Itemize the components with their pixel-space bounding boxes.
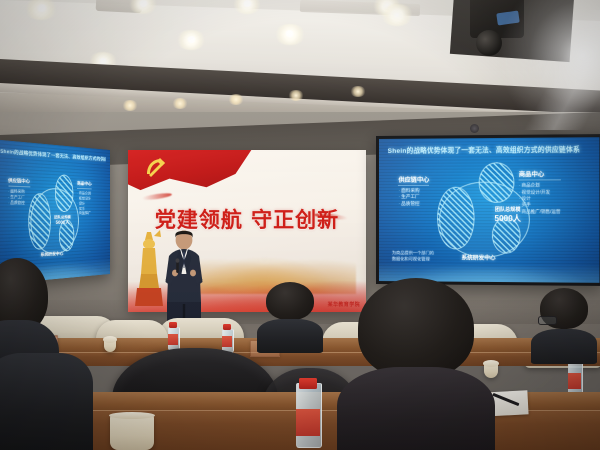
paper-cup[interactable] — [104, 338, 116, 352]
slide-left-column-product: 商品中心 商品企划 视觉设计 设计 买手 商品推广 — [77, 181, 92, 216]
bottle-cap — [169, 322, 177, 328]
attendee-head — [358, 278, 474, 378]
slide-left-supply-item: 品质管控 — [8, 200, 30, 206]
water-bottle[interactable] — [168, 322, 178, 349]
slide-right-column-supply: 供应链中心 面料采购 生产工厂 品质管控 — [398, 174, 429, 207]
slide-right-product-heading: 商品中心 — [519, 169, 561, 180]
cove-light — [172, 98, 188, 109]
backdrop-org-name: 某华教育学院 — [328, 301, 360, 308]
cove-light — [122, 100, 138, 111]
slide-note-line1: 为商品提供一个部门的 — [392, 250, 434, 255]
attendee-body — [257, 319, 322, 353]
eyeglasses-icon — [538, 316, 557, 325]
presenter-figure — [163, 228, 205, 328]
recessed-downlight — [242, 0, 253, 7]
attendee-body — [0, 353, 93, 450]
venn-total-value: 5000人 — [495, 214, 521, 223]
slide-right: Shein的战略优势体现了一套无法、高效组织方式的供应链体系 供应链中心 面料采… — [379, 137, 600, 283]
display-screen-right[interactable]: Shein的战略优势体现了一套无法、高效组织方式的供应链体系 供应链中心 面料采… — [376, 134, 600, 286]
bottle-label — [568, 373, 581, 388]
slide-left-supply-heading: 供应链中心 — [8, 178, 30, 188]
venn-center-label: 团队总规模 5000人 — [45, 215, 79, 227]
photo-scene: Shein的战略优势体现了一套无法、高效组织方式的供应链体系 供应链中心 面料采… — [0, 0, 600, 450]
cove-light — [228, 94, 244, 105]
recessed-downlight — [138, 0, 149, 7]
bottle-cap — [299, 378, 317, 389]
venn-circle-supply — [437, 187, 474, 249]
slide-left-product-item: 商品推广 — [77, 211, 92, 216]
golden-statue-icon — [134, 228, 164, 310]
projector-lens-icon — [476, 30, 502, 56]
hammer-and-sickle-emblem-icon — [144, 156, 168, 178]
venn-total-label: 团队总规模 — [495, 207, 521, 213]
attendee-left-foreground — [0, 342, 82, 450]
bottle-label — [296, 409, 320, 436]
recessed-downlight — [380, 4, 414, 26]
attendee-head — [266, 282, 314, 320]
recessed-downlight — [186, 36, 197, 43]
slide-right-supply-heading: 供应链中心 — [398, 174, 429, 185]
cove-light — [350, 86, 366, 97]
bottle-label — [168, 334, 178, 345]
water-bottle[interactable] — [222, 324, 232, 351]
recessed-downlight — [36, 4, 48, 12]
conference-table-mid-edge — [0, 352, 600, 366]
paper-cup[interactable] — [110, 414, 154, 450]
slide-right-title: Shein的战略优势体现了一套无法、高效组织方式的供应链体系 — [388, 143, 591, 155]
cove-light — [288, 90, 304, 101]
backdrop-swoosh — [142, 192, 172, 201]
attendee-center-foreground — [358, 278, 474, 450]
attendee-midground — [266, 282, 314, 348]
slide-left-product-heading: 商品中心 — [77, 181, 92, 190]
bottle-label — [222, 336, 232, 347]
venn-total-value: 5000人 — [56, 220, 70, 226]
recessed-downlight — [284, 30, 295, 37]
recessed-downlight — [98, 58, 108, 64]
venn-circle-product — [479, 162, 514, 203]
slide-left-title: Shein的战略优势体现了一套无法、高效组织方式的供应链体系 — [0, 149, 106, 164]
venn-center-label: 团队总规模 5000人 — [470, 206, 545, 224]
wall-camera-icon — [470, 124, 479, 133]
slide-left-column-supply: 供应链中心 面料采购 生产工厂 品质管控 — [8, 178, 30, 206]
paper-cup[interactable] — [484, 362, 498, 378]
slide-right-supply-item: 品质管控 — [398, 201, 429, 208]
attendee-body — [531, 329, 596, 364]
bottle-cap — [223, 324, 231, 330]
water-bottle[interactable] — [296, 378, 320, 446]
attendee-body — [337, 367, 495, 450]
venn-circle-product — [55, 174, 74, 211]
